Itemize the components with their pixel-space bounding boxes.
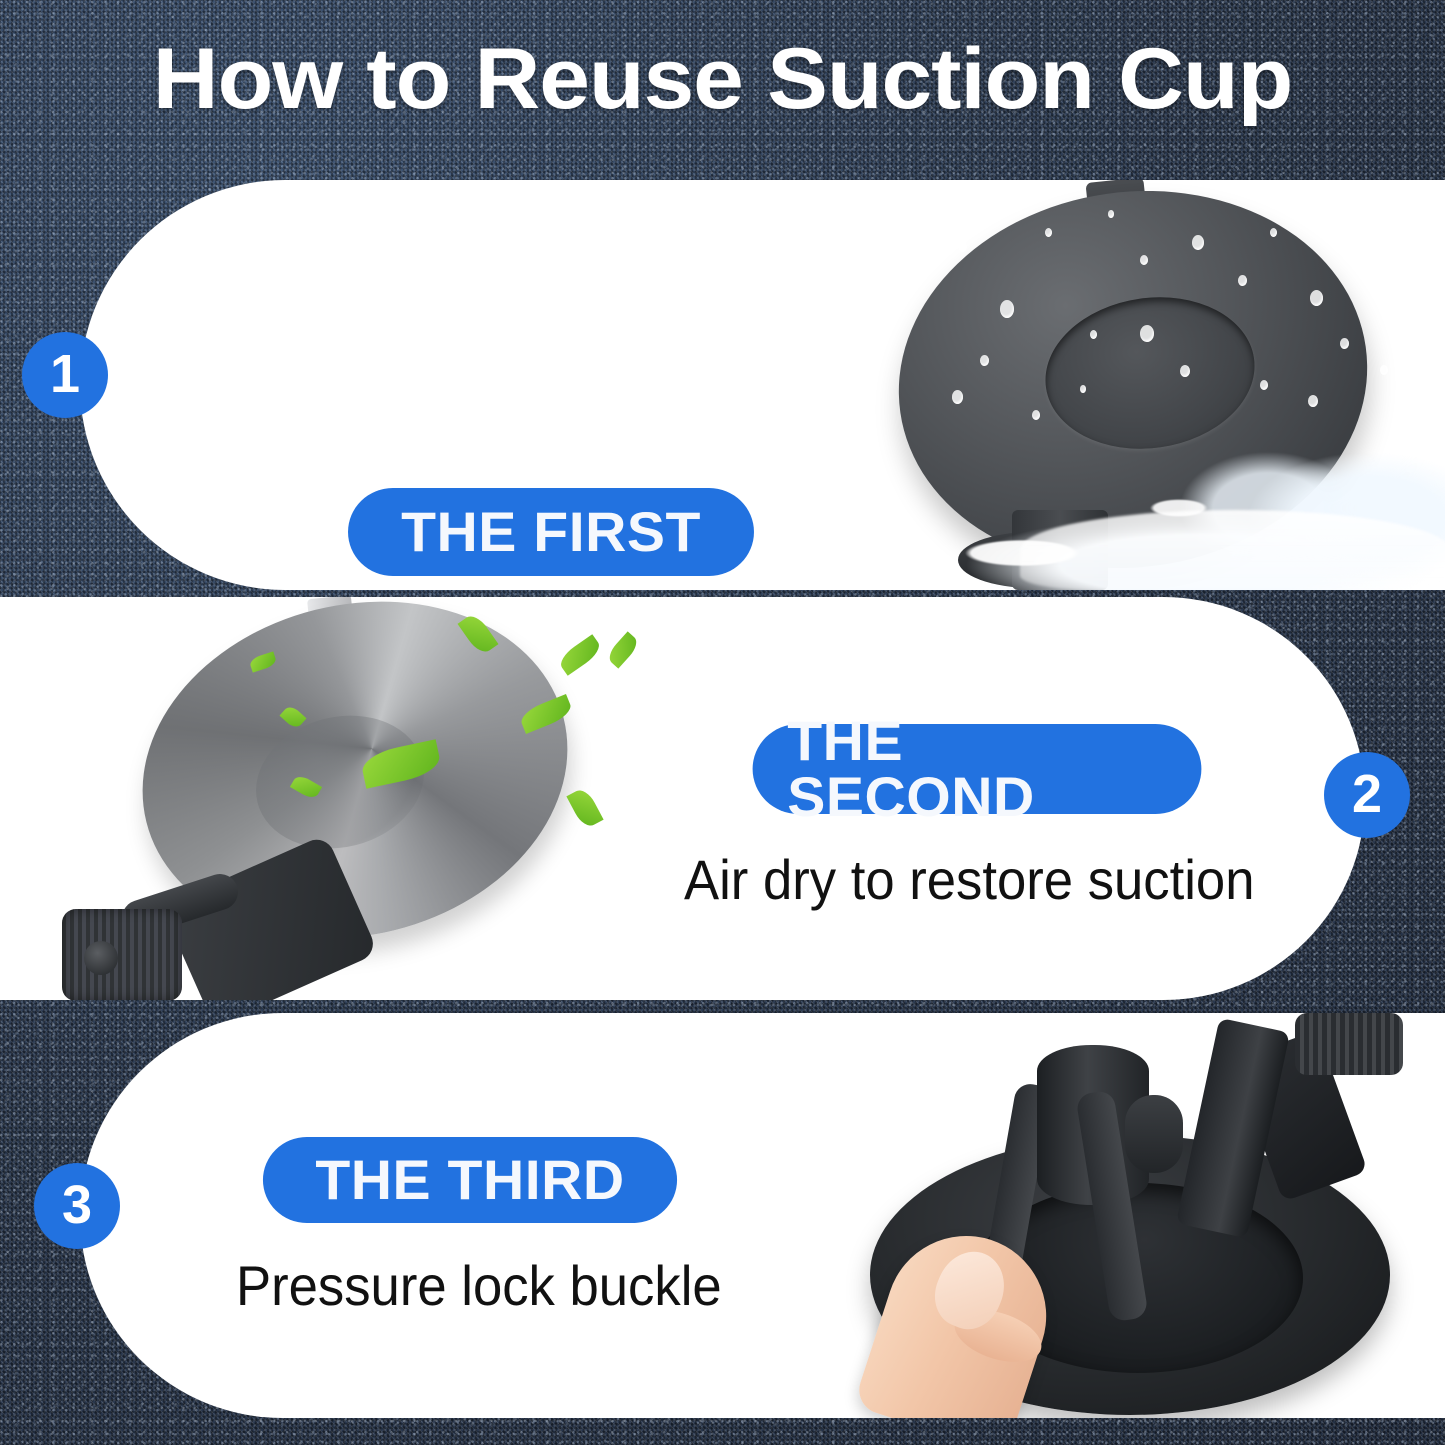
step-3-pill: THE THIRD [263, 1137, 677, 1223]
water-droplet [1270, 228, 1277, 237]
water-droplet [1180, 365, 1190, 377]
step-1-photo [840, 180, 1445, 590]
step-2-pill: THE SECOND [753, 724, 1202, 814]
step-1-pill: THE FIRST [348, 488, 754, 576]
water-droplet [1080, 385, 1086, 393]
page-title: How to Reuse Suction Cup [0, 34, 1445, 124]
water-splash-base [1020, 510, 1445, 590]
infographic-stage: How to Reuse Suction Cup [0, 0, 1445, 1445]
step-1-badge: 1 [22, 332, 108, 418]
step-card-1: THE FIRST Rinse with warm water [80, 180, 1445, 590]
water-droplet [1140, 255, 1148, 265]
green-leaf [556, 634, 604, 676]
water-droplet [1090, 330, 1097, 339]
water-droplet [980, 355, 989, 366]
adjust-knob-socket [84, 941, 118, 975]
step-card-3: THE THIRD Pressure lock buckle [80, 1013, 1445, 1418]
step-2-caption: Air dry to restore suction [684, 852, 1254, 908]
water-droplet [1000, 300, 1014, 318]
water-droplet [1192, 235, 1204, 250]
water-droplet [1380, 365, 1388, 375]
water-droplet [1140, 325, 1154, 342]
step-card-2: THE SECOND Air dry to restore suction [0, 597, 1365, 1000]
water-droplet [952, 390, 963, 404]
step-3-photo [825, 1013, 1445, 1418]
water-droplet [1045, 228, 1052, 237]
step-3-badge: 3 [34, 1163, 120, 1249]
water-droplet [1340, 338, 1349, 349]
pivot-knuckle [1125, 1095, 1183, 1173]
water-droplet [1108, 210, 1114, 218]
adjust-knob [62, 909, 182, 1000]
water-droplet [958, 240, 967, 252]
water-droplet [1032, 410, 1040, 420]
green-leaf [605, 631, 641, 668]
water-droplet [1238, 275, 1247, 286]
water-droplet [1308, 395, 1318, 407]
green-leaf [566, 786, 603, 830]
step-2-badge: 2 [1324, 752, 1410, 838]
tension-dial [1295, 1013, 1403, 1075]
water-droplet [1310, 290, 1323, 306]
step-2-photo [10, 597, 650, 1000]
water-droplet [1260, 380, 1268, 390]
water-droplet [1360, 250, 1366, 258]
step-3-caption: Pressure lock buckle [236, 1258, 722, 1314]
